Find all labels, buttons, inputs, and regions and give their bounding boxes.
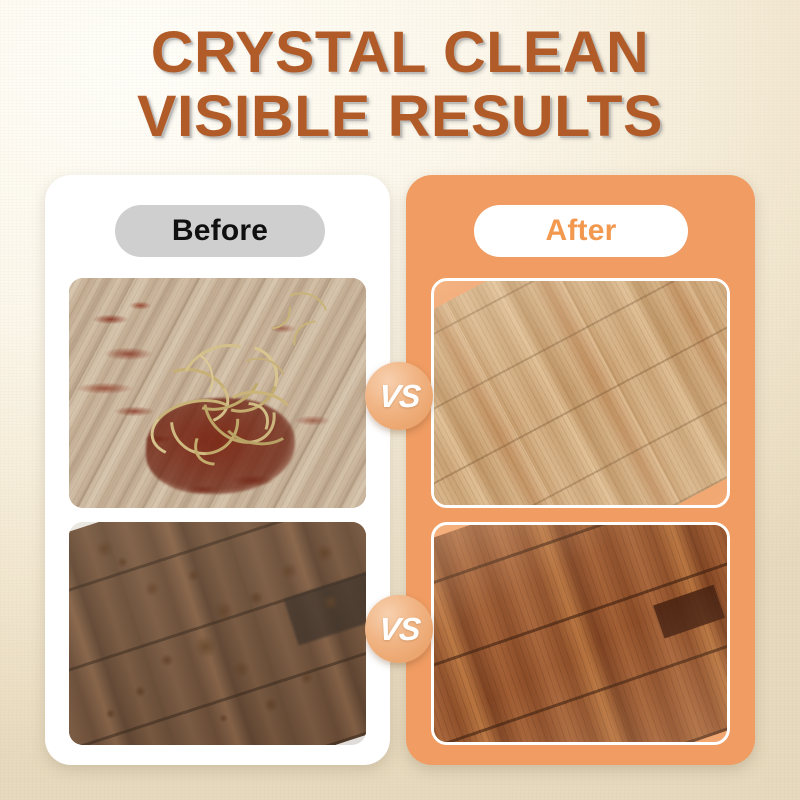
before-label-text: Before (172, 214, 268, 248)
vs-badge-bottom-label: VS (377, 613, 421, 645)
before-photo-stained-floor (69, 522, 366, 745)
gloss-reflection-overlay (434, 525, 727, 742)
title-line-1: CRYSTAL CLEAN (0, 24, 800, 82)
vs-badge-top-label: VS (377, 380, 421, 412)
dull-haze-overlay (69, 522, 366, 745)
before-photo-spaghetti (69, 278, 366, 508)
vs-badge-bottom: VS (365, 595, 433, 663)
after-label-text: After (545, 214, 616, 248)
after-label-badge: After (474, 205, 688, 257)
page-title: CRYSTAL CLEAN VISIBLE RESULTS (0, 24, 800, 146)
after-photo-polished-dark-floor (431, 522, 730, 745)
vs-badge-top: VS (365, 362, 433, 430)
before-panel: Before (45, 175, 390, 765)
clean-sheen-overlay (434, 281, 727, 505)
after-photo-clean-light-floor (431, 278, 730, 508)
after-panel: After (406, 175, 755, 765)
title-line-2: VISIBLE RESULTS (0, 88, 800, 146)
before-label-badge: Before (115, 205, 325, 257)
